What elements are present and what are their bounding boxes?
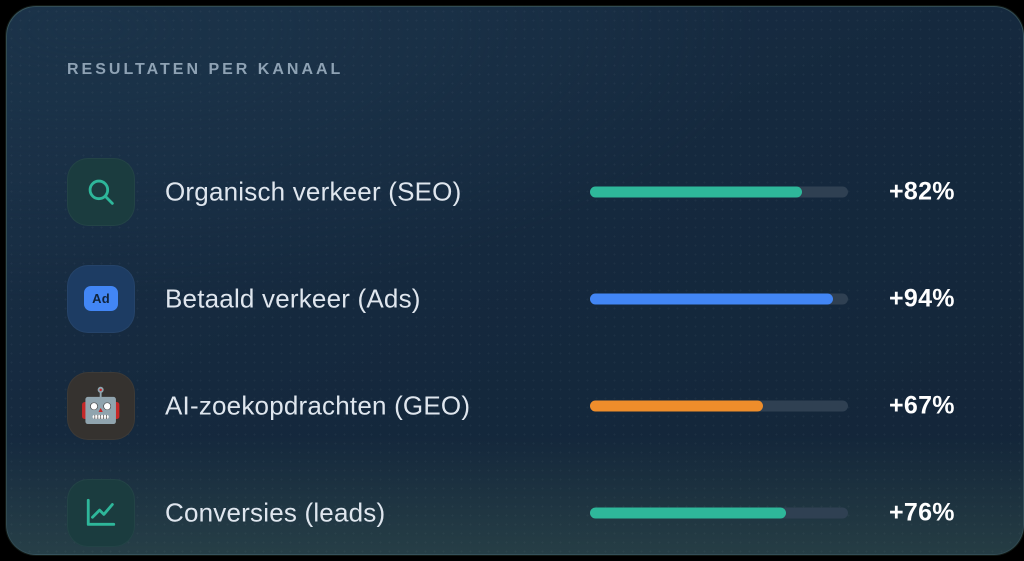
progress-track	[590, 507, 848, 518]
line-chart-icon	[67, 479, 135, 547]
progress-track	[590, 400, 848, 411]
ad-badge-icon: Ad	[67, 265, 135, 333]
progress-fill	[590, 400, 763, 411]
list-item[interactable]: Organisch verkeer (SEO) +82%	[7, 138, 1023, 245]
progress-fill	[590, 507, 786, 518]
list-item-label: Betaald verkeer (Ads)	[165, 283, 421, 314]
list-item[interactable]: 🤖 AI-zoekopdrachten (GEO) +67%	[7, 352, 1023, 459]
list-item-label: Organisch verkeer (SEO)	[165, 176, 461, 207]
page-title: RESULTATEN PER KANAAL	[67, 61, 343, 79]
status-badge: +76%	[889, 498, 955, 527]
status-badge: +82%	[889, 177, 955, 206]
status-badge: +67%	[889, 391, 955, 420]
progress-track	[590, 293, 848, 304]
search-icon	[67, 158, 135, 226]
progress-fill	[590, 186, 802, 197]
robot-glyph: 🤖	[80, 389, 122, 423]
list-item[interactable]: Conversies (leads) +76%	[7, 459, 1023, 555]
list-item-label: Conversies (leads)	[165, 497, 385, 528]
list-item[interactable]: Ad Betaald verkeer (Ads) +94%	[7, 245, 1023, 352]
results-card: RESULTATEN PER KANAAL Organisch verkeer …	[6, 6, 1024, 555]
status-badge: +94%	[889, 284, 955, 313]
channel-results-list: Organisch verkeer (SEO) +82% Ad Betaald …	[7, 138, 1023, 555]
results-card-wrapper: RESULTATEN PER KANAAL Organisch verkeer …	[6, 6, 1024, 555]
robot-icon: 🤖	[67, 372, 135, 440]
progress-fill	[590, 293, 833, 304]
list-item-label: AI-zoekopdrachten (GEO)	[165, 390, 470, 421]
progress-track	[590, 186, 848, 197]
ad-label: Ad	[84, 286, 118, 311]
